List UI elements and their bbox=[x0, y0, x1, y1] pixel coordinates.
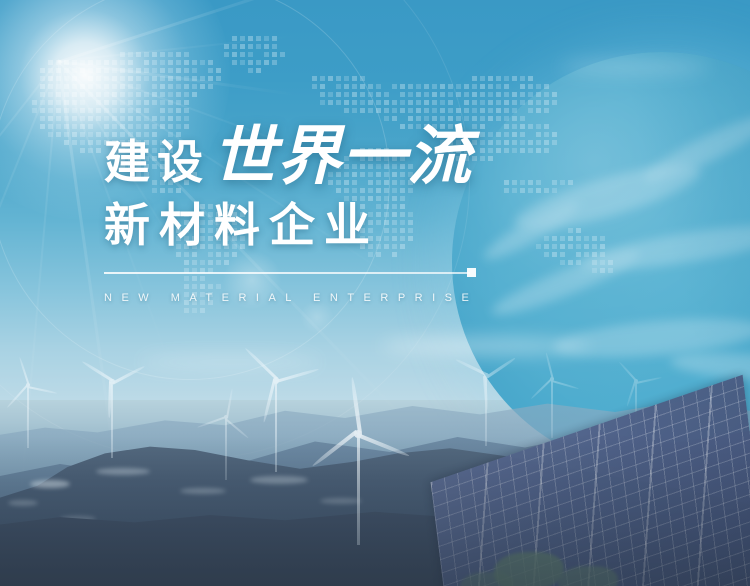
hero-banner: 建设 世界一流 新材料企业 NEW MATERIAL ENTERPRISE bbox=[0, 0, 750, 586]
wind-turbine-icon bbox=[236, 380, 316, 472]
foliage bbox=[558, 566, 618, 586]
landscape-scene bbox=[0, 330, 750, 586]
divider-rule bbox=[104, 272, 470, 274]
cloud-haze bbox=[560, 60, 710, 74]
headline-emphasis: 世界一流 bbox=[212, 124, 472, 188]
divider-end-dot bbox=[467, 268, 476, 277]
headline-line-2: 新材料企业 bbox=[104, 202, 524, 248]
headline-line-1: 建设 世界一流 bbox=[104, 124, 524, 188]
wind-turbine-icon bbox=[318, 433, 398, 545]
headline-block: 建设 世界一流 新材料企业 NEW MATERIAL ENTERPRISE bbox=[104, 124, 524, 304]
wind-turbine-icon bbox=[0, 386, 68, 448]
headline-prefix: 建设 bbox=[104, 139, 210, 185]
wind-turbine-icon bbox=[72, 382, 152, 458]
subtitle-text: NEW MATERIAL ENTERPRISE bbox=[104, 292, 524, 304]
lens-flare-dot-small bbox=[300, 300, 334, 334]
wind-turbine-icon bbox=[512, 380, 592, 438]
